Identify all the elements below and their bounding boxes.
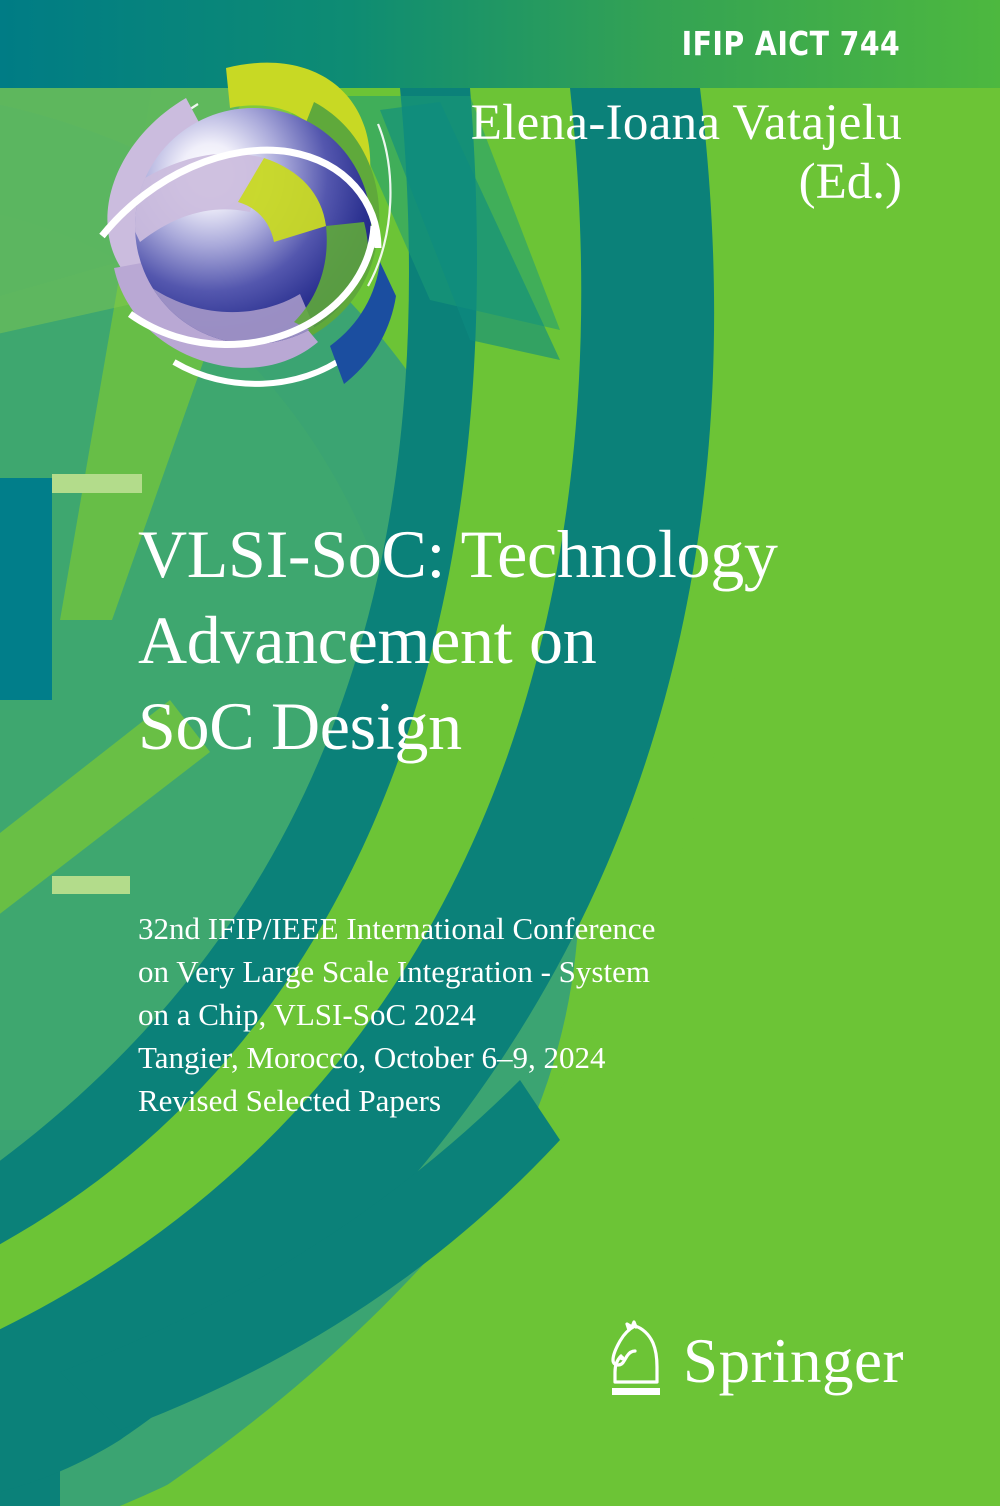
book-cover: IFIP AICT 744: [0, 0, 1000, 1506]
editor-block: Elena-Ioana Vatajelu (Ed.): [471, 96, 902, 212]
springer-wordmark: Springer: [683, 1330, 904, 1393]
editor-role: (Ed.): [471, 153, 902, 212]
conference-line-1: 32nd IFIP/IEEE International Conference: [138, 908, 655, 951]
knight-chess-piece-icon: [605, 1320, 667, 1402]
subtitle-accent-dash: [52, 876, 130, 894]
conference-line-2: on Very Large Scale Integration - System: [138, 951, 655, 994]
conference-info: 32nd IFIP/IEEE International Conference …: [138, 908, 655, 1123]
ifip-globe-logo: [78, 46, 398, 391]
editor-name: Elena-Ioana Vatajelu: [471, 96, 902, 151]
book-title-line-3: SoC Design: [138, 683, 948, 769]
series-label: IFIP AICT 744: [681, 24, 900, 63]
book-title-line-2: Advancement on: [138, 597, 948, 683]
book-title-line-1: VLSI-SoC: Technology: [138, 511, 948, 597]
book-title: VLSI-SoC: Technology Advancement on SoC …: [138, 511, 948, 769]
title-accent-dash: [52, 474, 142, 493]
conference-line-4: Tangier, Morocco, October 6–9, 2024: [138, 1037, 655, 1080]
springer-logo: Springer: [605, 1320, 904, 1402]
conference-line-3: on a Chip, VLSI-SoC 2024: [138, 994, 655, 1037]
conference-line-5: Revised Selected Papers: [138, 1080, 655, 1123]
